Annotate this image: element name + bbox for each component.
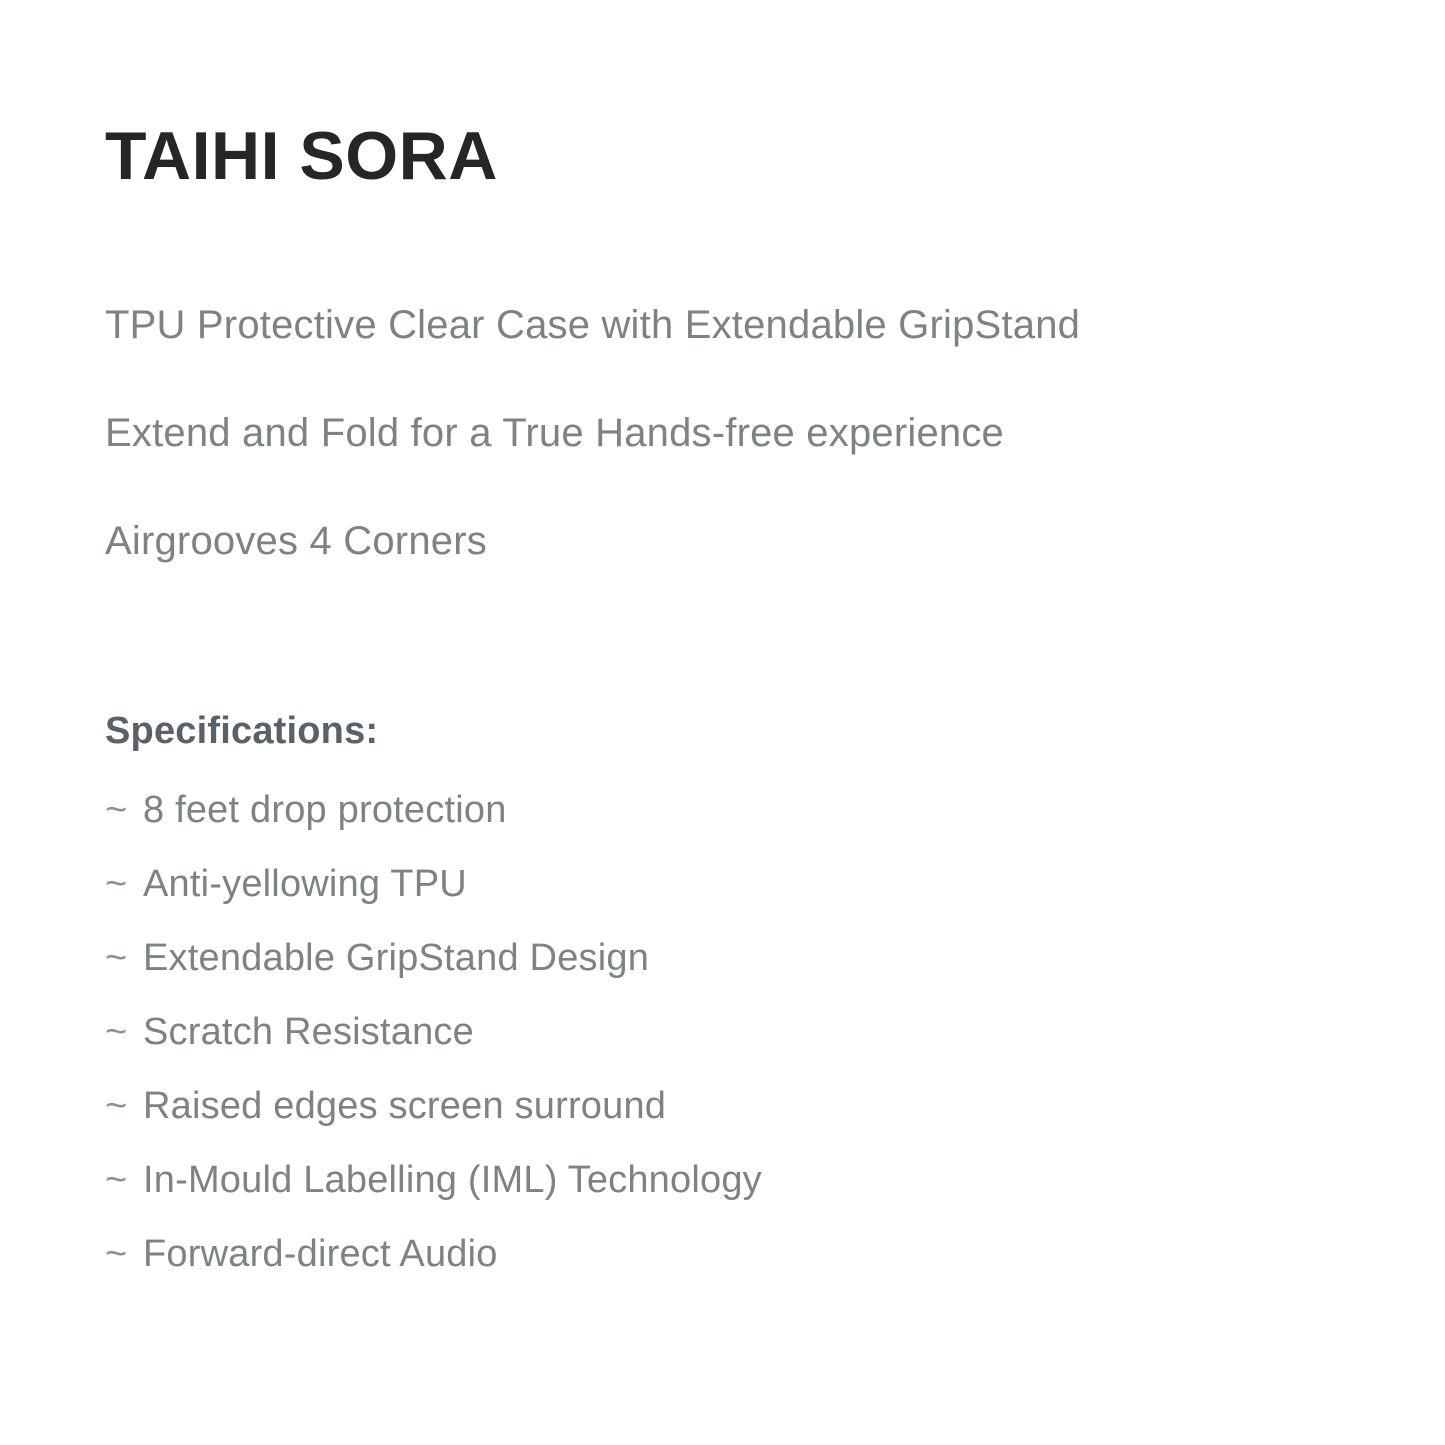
tilde-bullet-icon: ~ — [105, 1013, 143, 1051]
list-item: ~ In-Mould Labelling (IML) Technology — [105, 1161, 1405, 1199]
spec-item-label: Forward-direct Audio — [143, 1235, 498, 1273]
list-item: ~ Anti-yellowing TPU — [105, 865, 1405, 903]
list-item: ~ 8 feet drop protection — [105, 791, 1405, 829]
specifications-heading: Specifications: — [105, 712, 1405, 750]
list-item: ~ Raised edges screen surround — [105, 1087, 1405, 1125]
specifications-section: Specifications: ~ 8 feet drop protection… — [105, 712, 1405, 1273]
intro-line-3: Airgrooves 4 Corners — [105, 521, 1405, 561]
spec-item-label: Scratch Resistance — [143, 1013, 474, 1051]
product-description-page: TAIHI SORA TPU Protective Clear Case wit… — [0, 0, 1445, 1445]
spec-item-label: 8 feet drop protection — [143, 791, 507, 829]
specifications-list: ~ 8 feet drop protection ~ Anti-yellowin… — [105, 791, 1405, 1273]
intro-line-1: TPU Protective Clear Case with Extendabl… — [105, 305, 1405, 345]
tilde-bullet-icon: ~ — [105, 1235, 143, 1273]
tilde-bullet-icon: ~ — [105, 1087, 143, 1125]
spec-item-label: Raised edges screen surround — [143, 1087, 666, 1125]
list-item: ~ Forward-direct Audio — [105, 1235, 1405, 1273]
spec-item-label: Extendable GripStand Design — [143, 939, 649, 977]
tilde-bullet-icon: ~ — [105, 791, 143, 829]
spec-item-label: In-Mould Labelling (IML) Technology — [143, 1161, 762, 1199]
spec-item-label: Anti-yellowing TPU — [143, 865, 467, 903]
page-title: TAIHI SORA — [105, 122, 498, 190]
tilde-bullet-icon: ~ — [105, 939, 143, 977]
list-item: ~ Scratch Resistance — [105, 1013, 1405, 1051]
intro-paragraphs: TPU Protective Clear Case with Extendabl… — [105, 305, 1405, 561]
intro-line-2: Extend and Fold for a True Hands-free ex… — [105, 413, 1405, 453]
tilde-bullet-icon: ~ — [105, 865, 143, 903]
tilde-bullet-icon: ~ — [105, 1161, 143, 1199]
list-item: ~ Extendable GripStand Design — [105, 939, 1405, 977]
